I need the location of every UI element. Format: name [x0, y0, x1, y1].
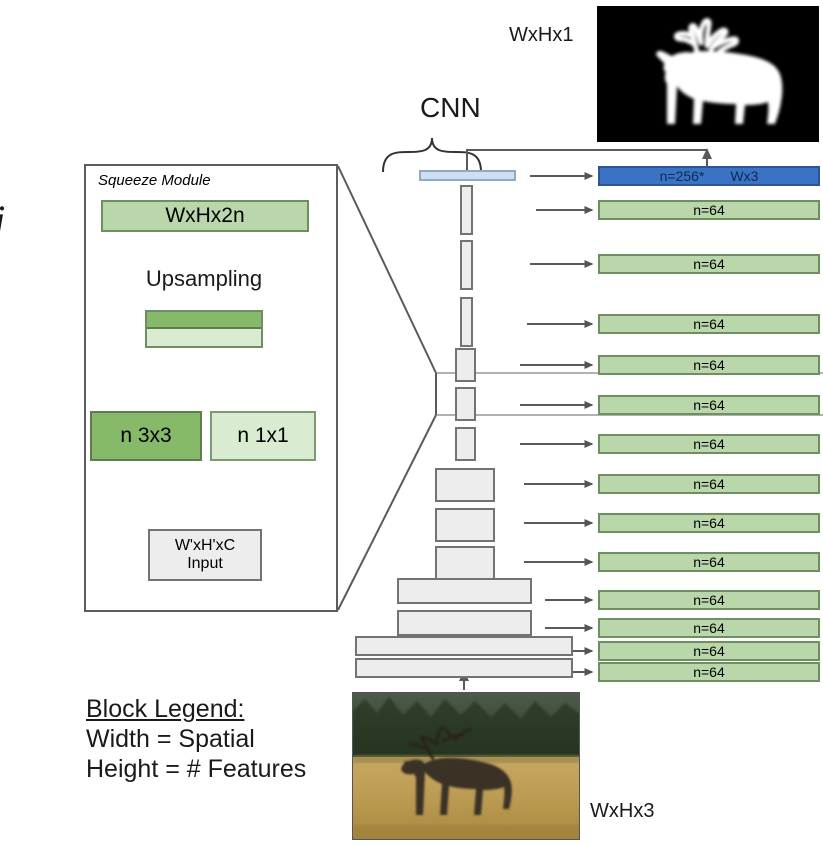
- output-block-label: n=64: [693, 357, 725, 373]
- output-block-13: n=64: [598, 641, 820, 661]
- upsampling-label: Upsampling: [104, 266, 304, 292]
- feature-bar-14: [355, 658, 573, 678]
- squeeze-input-block: W'xH'xC Input: [148, 529, 262, 581]
- input-photo-image: [352, 692, 580, 840]
- output-block-label: n=64: [693, 664, 725, 680]
- output-block-label: n=64: [693, 256, 725, 272]
- feature-bar-8: [435, 468, 495, 502]
- output-block-4: n=64: [598, 314, 820, 334]
- output-block-label: n=64: [693, 643, 725, 659]
- feature-bar-13: [355, 636, 573, 656]
- output-block-label: n=64: [693, 436, 725, 452]
- output-block-5: n=64: [598, 355, 820, 375]
- squeeze-input-line1: W'xH'xC: [175, 537, 235, 555]
- mask-dimension-label: WxHx1: [509, 24, 573, 47]
- legend-heading: Block Legend:: [86, 694, 306, 724]
- output-block-9: n=64: [598, 513, 820, 533]
- feature-bar-11: [397, 578, 532, 604]
- output-block-label: n=64: [693, 554, 725, 570]
- output-block-label: n=256*: [660, 168, 705, 184]
- input-dimension-label: WxHx3: [590, 800, 654, 823]
- output-block-1: n=256*Wx3: [598, 166, 820, 186]
- output-block-3: n=64: [598, 254, 820, 274]
- squeeze-input-line2: Input: [187, 555, 223, 573]
- output-block-label-secondary: Wx3: [730, 168, 758, 184]
- conv-3x3-block: n 3x3: [90, 411, 202, 461]
- legend-line-2: Height = # Features: [86, 754, 306, 784]
- squeeze-module-title: Squeeze Module: [98, 172, 211, 189]
- concat-lower-half: [147, 329, 261, 346]
- feature-bar-top: [419, 170, 516, 181]
- feature-bar-7: [455, 427, 476, 461]
- feature-bar-9: [435, 508, 495, 542]
- output-block-8: n=64: [598, 474, 820, 494]
- feature-bar-6: [455, 387, 476, 421]
- feature-bar-3: [460, 240, 473, 290]
- zoom-line-top: [338, 166, 436, 373]
- feature-bar-5: [455, 348, 476, 382]
- feature-bar-2: [460, 185, 473, 235]
- output-block-2: n=64: [598, 200, 820, 220]
- mask-output-image: [597, 6, 819, 142]
- output-block-label: n=64: [693, 202, 725, 218]
- left-edge-glyph: j: [0, 196, 5, 243]
- output-block-label: n=64: [693, 397, 725, 413]
- output-block-label: n=64: [693, 592, 725, 608]
- output-block-label: n=64: [693, 316, 725, 332]
- feature-bar-4: [460, 297, 473, 347]
- concat-block: [145, 310, 263, 348]
- legend-line-1: Width = Spatial: [86, 724, 306, 754]
- diagram-canvas: n=256*Wx3n=64n=64n=64n=64n=64n=64n=64n=6…: [0, 0, 823, 845]
- output-block-label: n=64: [693, 515, 725, 531]
- cnn-label: CNN: [420, 92, 481, 124]
- output-block-10: n=64: [598, 552, 820, 572]
- concat-upper-half: [147, 312, 261, 329]
- output-block-11: n=64: [598, 590, 820, 610]
- squeeze-output-block: WxHx2n: [101, 200, 309, 232]
- block-legend: Block Legend: Width = Spatial Height = #…: [86, 694, 306, 784]
- conv-1x1-block: n 1x1: [210, 411, 316, 461]
- output-block-6: n=64: [598, 395, 820, 415]
- feature-bar-12: [397, 610, 532, 636]
- output-block-14: n=64: [598, 662, 820, 682]
- feature-bar-10: [435, 546, 495, 580]
- output-block-12: n=64: [598, 618, 820, 638]
- output-block-7: n=64: [598, 434, 820, 454]
- output-block-label: n=64: [693, 620, 725, 636]
- output-block-label: n=64: [693, 476, 725, 492]
